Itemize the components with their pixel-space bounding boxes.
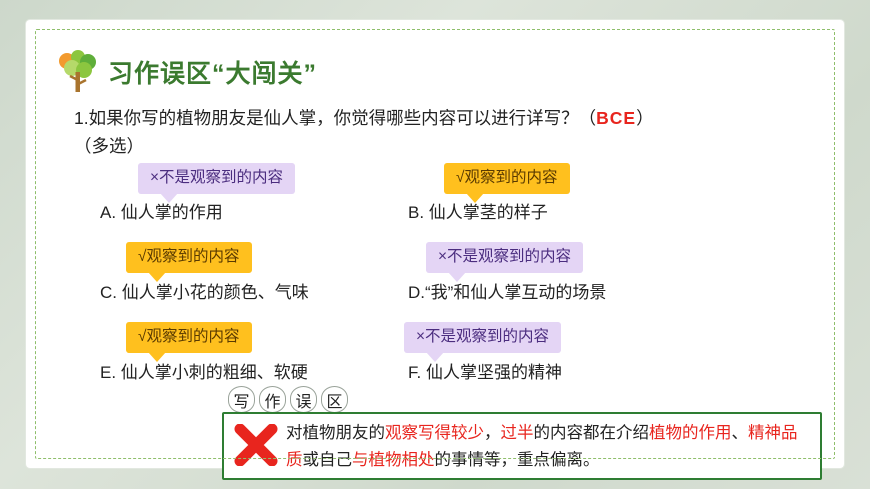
note-seg-11: 与植物相处 — [352, 451, 435, 469]
page-title: 习作误区“大闯关” — [108, 54, 317, 90]
callout-option-c: √观察到的内容 — [126, 242, 252, 273]
callout-option-c-text: √观察到的内容 — [138, 248, 240, 265]
callout-option-d: ×不是观察到的内容 — [426, 242, 583, 273]
callout-option-d-text: ×不是观察到的内容 — [438, 248, 571, 265]
tag-char-3: 误 — [290, 386, 317, 413]
callout-option-a: ×不是观察到的内容 — [138, 163, 295, 194]
callout-tail — [448, 272, 466, 282]
note-seg-2: 观察写得较少 — [385, 424, 484, 442]
option-d[interactable]: D.“我”和仙人掌互动的场景 — [408, 278, 606, 303]
callout-option-f-text: ×不是观察到的内容 — [416, 328, 549, 345]
question-line: 1.如果你写的植物朋友是仙人掌，你觉得哪些内容可以进行详写？（BCE） — [74, 103, 834, 133]
note-seg-4: 过半 — [501, 424, 534, 442]
slide: 习作误区“大闯关” 1.如果你写的植物朋友是仙人掌，你觉得哪些内容可以进行详写？… — [0, 0, 870, 489]
tag-char-2: 作 — [259, 386, 286, 413]
callout-tail — [466, 193, 484, 203]
callout-tail — [148, 272, 166, 282]
tree-icon — [58, 50, 98, 94]
note-seg-8: 、 — [732, 424, 749, 442]
callout-option-f: ×不是观察到的内容 — [404, 322, 561, 353]
callout-option-a-text: ×不是观察到的内容 — [150, 169, 283, 186]
note-seg-7: 作用 — [699, 424, 732, 442]
callout-option-e-text: √观察到的内容 — [138, 328, 240, 345]
note-text: 对植物朋友的观察写得较少，过半的内容都在介绍植物的作用、精神品质或自己与植物相处… — [286, 420, 810, 474]
title-row: 习作误区“大闯关” — [58, 50, 317, 94]
callout-tail — [148, 352, 166, 362]
note-seg-1: 对植物朋友的 — [286, 424, 385, 442]
note-box: 对植物朋友的观察写得较少，过半的内容都在介绍植物的作用、精神品质或自己与植物相处… — [222, 412, 822, 480]
note-seg-5: 的内容都在介绍 — [534, 424, 650, 442]
callout-option-b: √观察到的内容 — [444, 163, 570, 194]
callout-option-e: √观察到的内容 — [126, 322, 252, 353]
option-e[interactable]: E. 仙人掌小刺的粗细、软硬 — [100, 358, 308, 383]
option-c[interactable]: C. 仙人掌小花的颜色、气味 — [100, 278, 309, 303]
red-cross-icon — [234, 424, 278, 466]
tag-char-1: 写 — [228, 386, 255, 413]
callout-tail — [160, 193, 178, 203]
note-seg-10: 或自己 — [303, 451, 353, 469]
slide-card: 习作误区“大闯关” 1.如果你写的植物朋友是仙人掌，你觉得哪些内容可以进行详写？… — [26, 20, 844, 468]
note-seg-3: ， — [484, 424, 501, 442]
question-text: 如果你写的植物朋友是仙人掌，你觉得哪些内容可以进行详写？（ — [89, 108, 597, 128]
question-answer: BCE — [596, 108, 636, 128]
note-seg-12: 的事情等，重点偏离。 — [435, 451, 600, 469]
callout-tail — [426, 352, 444, 362]
note-seg-6: 植物的 — [649, 424, 699, 442]
question-number: 1. — [74, 108, 89, 128]
callout-option-b-text: √观察到的内容 — [456, 169, 558, 186]
tag-label-group: 写 作 误 区 — [228, 386, 348, 413]
question-text-after: ） — [636, 108, 654, 128]
tag-char-4: 区 — [321, 386, 348, 413]
question-subnote: （多选） — [74, 133, 144, 158]
